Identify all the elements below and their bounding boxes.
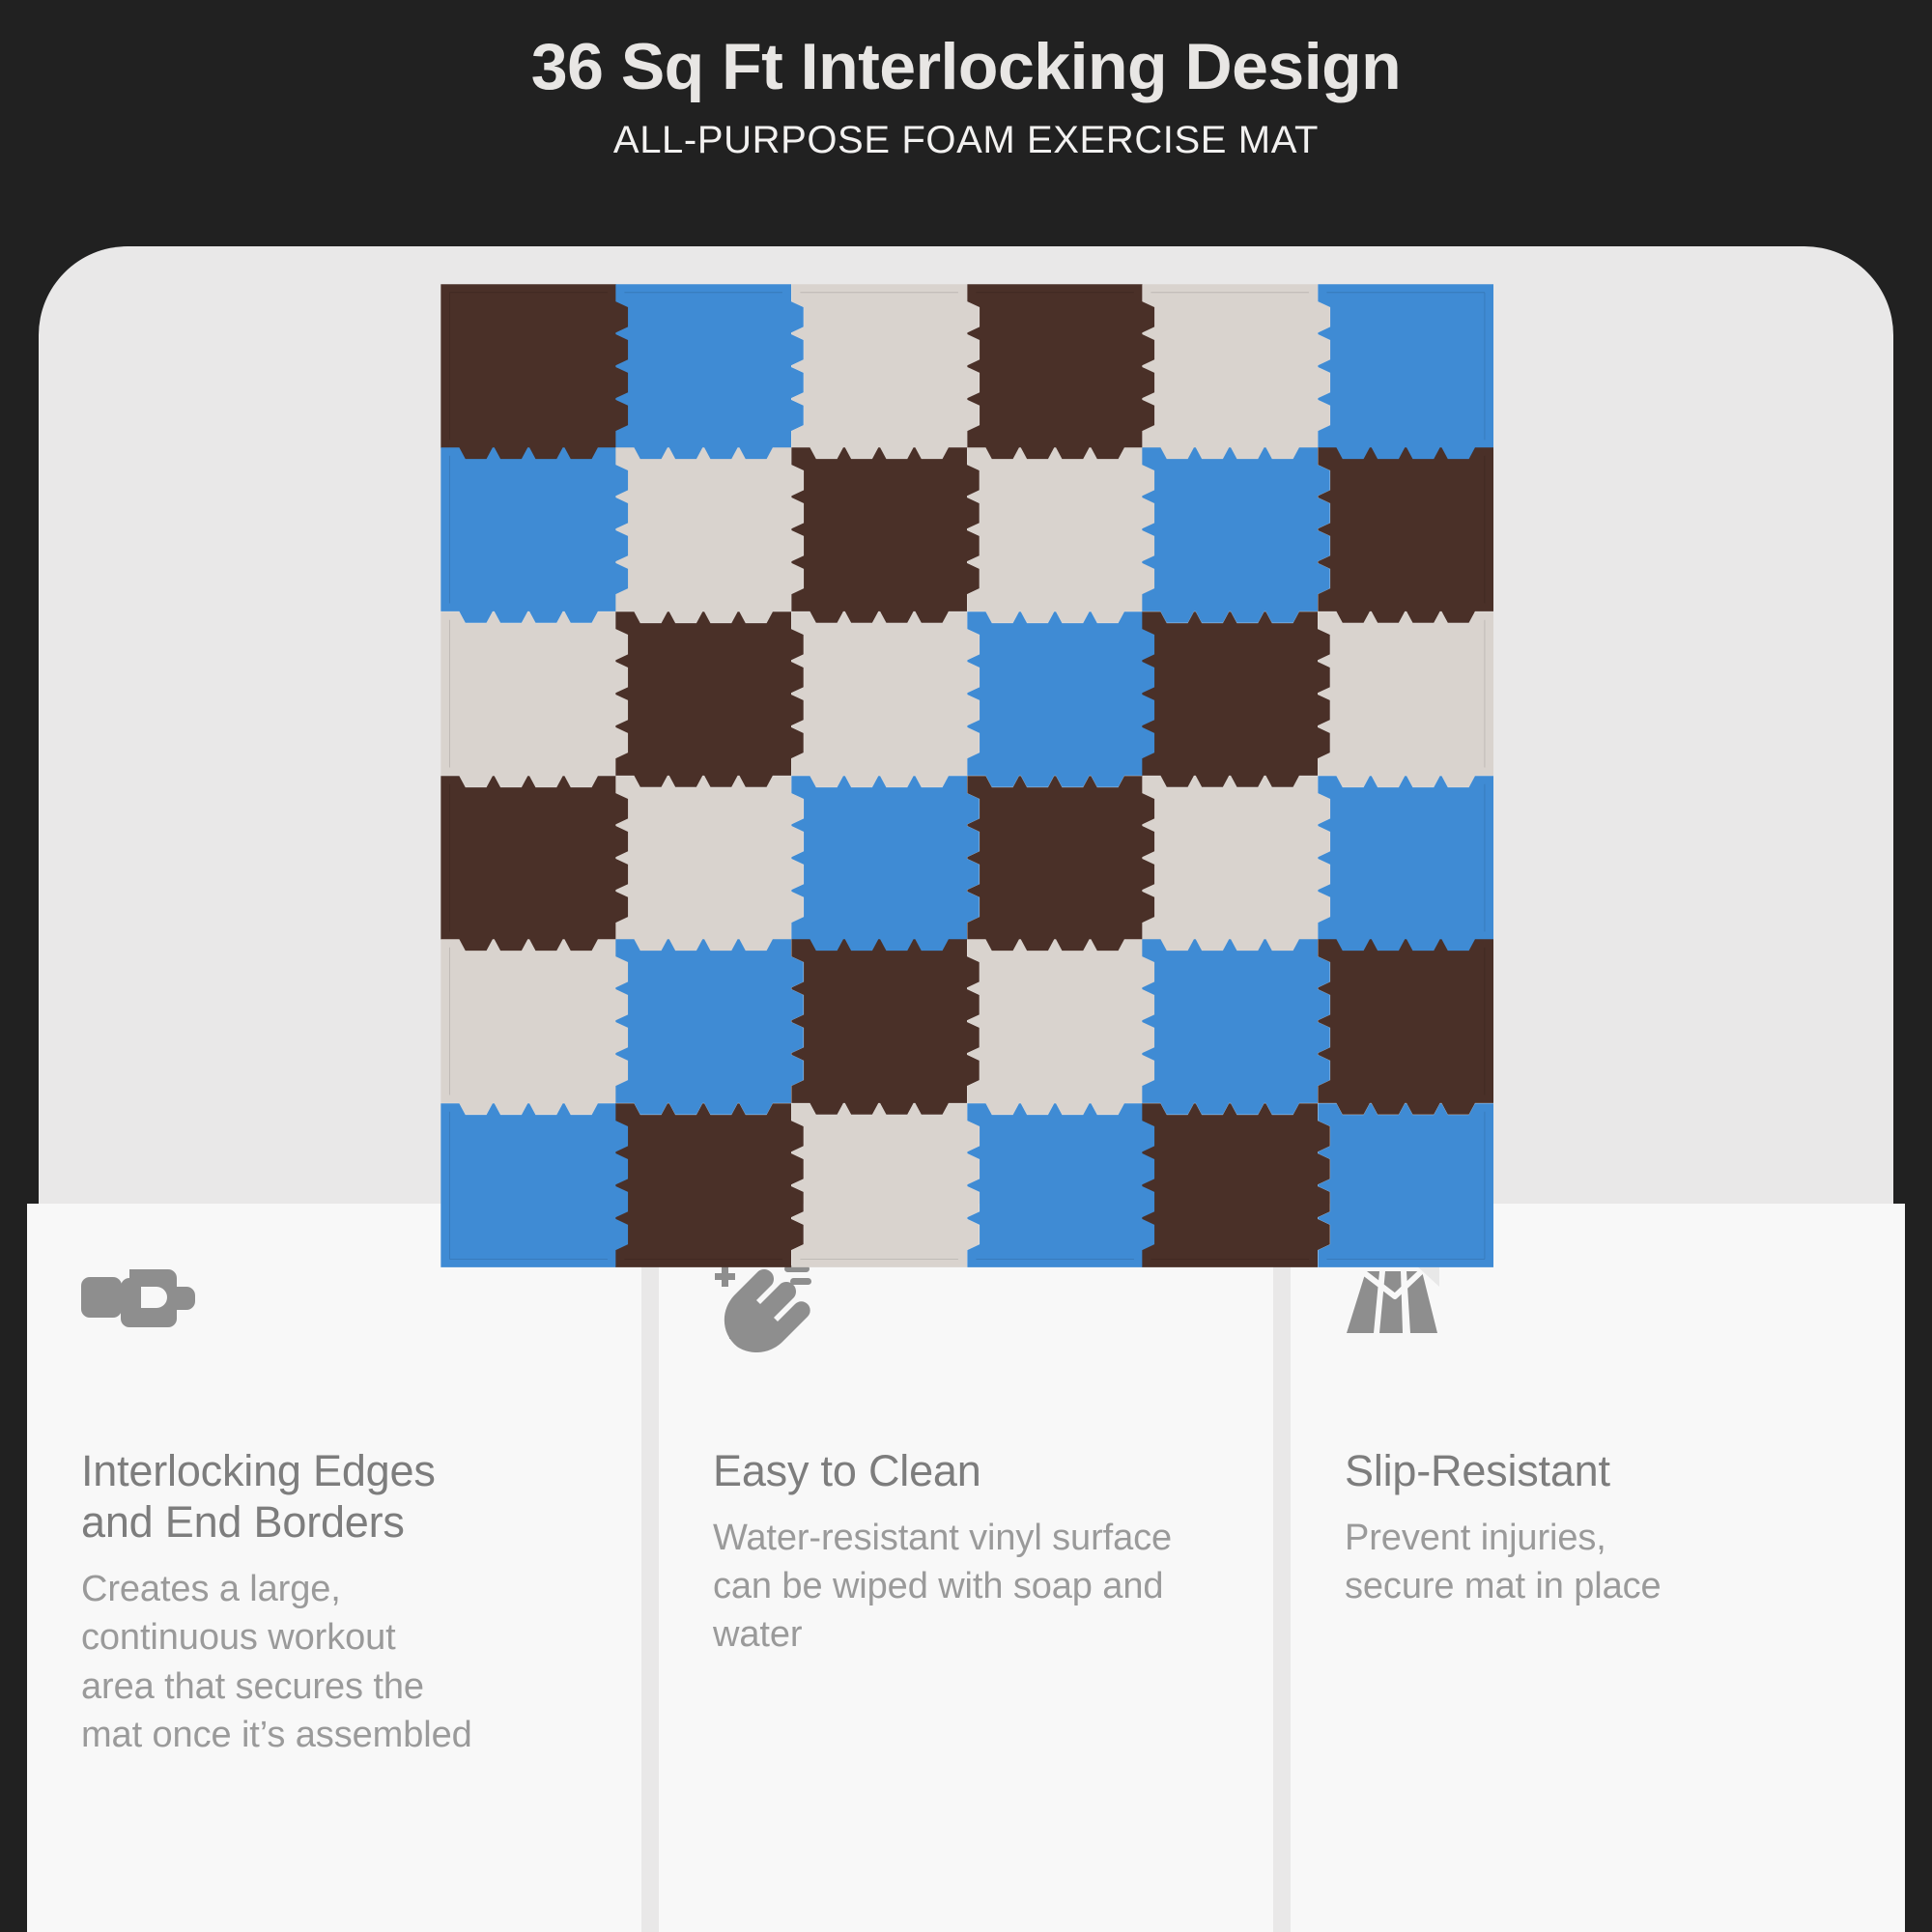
mat-tile-blue-r4c6 bbox=[1318, 776, 1493, 940]
feature-card-3: Slip-ResistantPrevent injuries, secure m… bbox=[1291, 1204, 1905, 1932]
mat-tile-brown-r5c6 bbox=[1318, 940, 1493, 1104]
mat-tile-brown-r3c2 bbox=[616, 611, 792, 776]
mat-tile-brown-r5c3 bbox=[791, 940, 967, 1104]
feature-description: Water-resistant vinyl surface can be wip… bbox=[713, 1514, 1219, 1659]
page-subtitle: ALL-PURPOSE FOAM EXERCISE MAT bbox=[613, 119, 1319, 162]
mat-tile-brown-r6c2 bbox=[616, 1103, 792, 1267]
mat-tile-cream-r2c2 bbox=[616, 448, 792, 612]
mat-tile-blue-r1c2 bbox=[616, 284, 792, 448]
mat-tile-cream-r3c1 bbox=[440, 611, 616, 776]
feature-title: Slip-Resistant bbox=[1345, 1445, 1851, 1496]
mat-tile-blue-r6c4 bbox=[967, 1103, 1143, 1267]
mat-tile-brown-r4c1 bbox=[440, 776, 616, 940]
feature-card-row: Interlocking Edges and End BordersCreate… bbox=[27, 1204, 1905, 1932]
foam-mat-image bbox=[440, 284, 1493, 1267]
feature-title: Easy to Clean bbox=[713, 1445, 1219, 1496]
mat-tile-brown-r4c4 bbox=[967, 776, 1143, 940]
feature-description: Prevent injuries, secure mat in place bbox=[1345, 1514, 1851, 1610]
header: 36 Sq Ft Interlocking Design ALL-PURPOSE… bbox=[0, 0, 1932, 249]
page-title: 36 Sq Ft Interlocking Design bbox=[531, 33, 1401, 101]
mat-tile-cream-r4c5 bbox=[1143, 776, 1319, 940]
mat-tile-blue-r5c2 bbox=[616, 940, 792, 1104]
mat-tile-blue-r6c1 bbox=[440, 1103, 616, 1267]
mat-tile-brown-r2c3 bbox=[791, 448, 967, 612]
mat-tile-brown-r6c5 bbox=[1143, 1103, 1319, 1267]
mat-tile-brown-r2c6 bbox=[1318, 448, 1493, 612]
mat-tile-cream-r3c6 bbox=[1318, 611, 1493, 776]
mat-tile-brown-r3c5 bbox=[1143, 611, 1319, 776]
mat-tile-blue-r4c3 bbox=[791, 776, 967, 940]
mat-tile-blue-r5c5 bbox=[1143, 940, 1319, 1104]
feature-card-2: Easy to CleanWater-resistant vinyl surfa… bbox=[659, 1204, 1273, 1932]
infographic-root: 36 Sq Ft Interlocking Design ALL-PURPOSE… bbox=[0, 0, 1932, 1932]
mat-tile-blue-r2c5 bbox=[1143, 448, 1319, 612]
mat-tile-cream-r4c2 bbox=[616, 776, 792, 940]
mat-tile-cream-r1c5 bbox=[1143, 284, 1319, 448]
mat-tile-blue-r1c6 bbox=[1318, 284, 1493, 448]
mat-tile-cream-r3c3 bbox=[791, 611, 967, 776]
mat-tile-cream-r5c1 bbox=[440, 940, 616, 1104]
feature-card-1: Interlocking Edges and End BordersCreate… bbox=[27, 1204, 641, 1932]
feature-title: Interlocking Edges and End Borders bbox=[81, 1445, 587, 1548]
feature-description: Creates a large, continuous workout area… bbox=[81, 1565, 587, 1759]
mat-tile-blue-r2c1 bbox=[440, 448, 616, 612]
mat-tile-brown-r1c4 bbox=[967, 284, 1143, 448]
mat-tile-blue-r3c4 bbox=[967, 611, 1143, 776]
mat-tile-cream-r1c3 bbox=[791, 284, 967, 448]
mat-tile-cream-r6c3 bbox=[791, 1103, 967, 1267]
mat-tile-blue-r6c6 bbox=[1318, 1103, 1493, 1267]
mat-tile-grid bbox=[440, 284, 1493, 1267]
mat-tile-cream-r2c4 bbox=[967, 448, 1143, 612]
mat-tile-cream-r5c4 bbox=[967, 940, 1143, 1104]
mat-tile-brown-r1c1 bbox=[440, 284, 616, 448]
